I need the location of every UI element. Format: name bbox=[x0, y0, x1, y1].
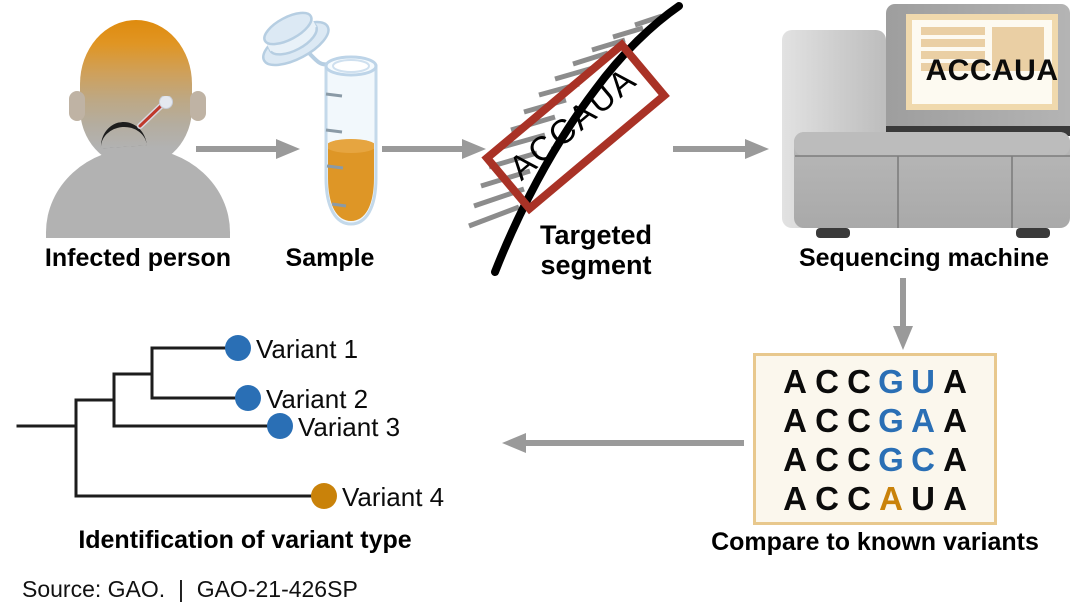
sequencing-machine-icon bbox=[776, 2, 1072, 250]
arrow-segment-to-machine bbox=[673, 136, 769, 162]
sequence-base-highlighted: G bbox=[875, 443, 907, 476]
sequence-base: A bbox=[779, 482, 811, 515]
sequence-base-highlighted: G bbox=[875, 365, 907, 398]
sequencing-machine-illustration: ACCAUA bbox=[776, 2, 1072, 250]
arrow-compare-to-tree bbox=[500, 430, 744, 456]
sequence-row: A C C A U A bbox=[756, 479, 994, 518]
sequence-base: C bbox=[843, 365, 875, 398]
sequence-base: C bbox=[811, 365, 843, 398]
sequence-base-highlighted: A bbox=[907, 404, 939, 437]
stage-label-sample: Sample bbox=[255, 246, 405, 271]
stage-label-sequencing-machine: Sequencing machine bbox=[774, 246, 1073, 271]
source-attribution: Source: GAO. | GAO-21-426SP bbox=[22, 578, 358, 601]
sequence-base: A bbox=[779, 443, 811, 476]
variant-label-4: Variant 4 bbox=[342, 484, 444, 510]
sequence-base: U bbox=[907, 482, 939, 515]
sequence-base: A bbox=[939, 482, 971, 515]
sequence-base: C bbox=[843, 482, 875, 515]
sequence-base: A bbox=[939, 404, 971, 437]
arrow-machine-to-compare bbox=[890, 278, 916, 350]
variant-dot-2 bbox=[235, 385, 261, 411]
sequence-base: C bbox=[811, 404, 843, 437]
sequence-row: A C C G U A bbox=[756, 362, 994, 401]
variant-dot-4 bbox=[311, 483, 337, 509]
sequence-base: A bbox=[939, 365, 971, 398]
sequence-base: A bbox=[779, 365, 811, 398]
sample-tube-illustration bbox=[250, 8, 390, 234]
stage-label-infected-person: Infected person bbox=[18, 246, 258, 271]
sequence-base-highlighted: A bbox=[875, 482, 907, 515]
stage-label-compare-to-known-variants: Compare to known variants bbox=[680, 530, 1070, 555]
sequence-base: C bbox=[843, 443, 875, 476]
sequence-base: C bbox=[811, 482, 843, 515]
variant-dot-1 bbox=[225, 335, 251, 361]
figure-canvas: Infected person bbox=[0, 0, 1073, 612]
sequence-base: C bbox=[811, 443, 843, 476]
infected-person-illustration bbox=[38, 18, 238, 230]
stage-label-targeted-segment-line2: segment bbox=[500, 250, 692, 280]
person-ear-left bbox=[69, 91, 85, 121]
sequence-base: C bbox=[843, 404, 875, 437]
variant-label-2: Variant 2 bbox=[266, 386, 368, 412]
variant-label-3: Variant 3 bbox=[298, 414, 400, 440]
sequence-base: A bbox=[779, 404, 811, 437]
stage-label-targeted-segment: Targeted segment bbox=[500, 220, 692, 280]
sequence-base: A bbox=[939, 443, 971, 476]
stage-label-identification-of-variant-type: Identification of variant type bbox=[40, 528, 450, 553]
sequence-base-highlighted: G bbox=[875, 404, 907, 437]
variant-dot-3 bbox=[267, 413, 293, 439]
phylogenetic-tree-illustration: Variant 1 Variant 2 Variant 3 Variant 4 bbox=[10, 330, 490, 520]
stage-label-targeted-segment-line1: Targeted bbox=[500, 220, 692, 250]
microcentrifuge-tube-icon bbox=[250, 8, 390, 234]
person-ear-right bbox=[190, 91, 206, 121]
sequence-base-highlighted: U bbox=[907, 365, 939, 398]
variant-label-1: Variant 1 bbox=[256, 336, 358, 362]
sequence-row: A C C G A A bbox=[756, 401, 994, 440]
sequence-row: A C C G C A bbox=[756, 440, 994, 479]
known-variants-sequence-box: A C C G U A A C C G A A A C C G C A A C … bbox=[753, 353, 997, 525]
sequence-base-highlighted: C bbox=[907, 443, 939, 476]
machine-screen-sequence-text: ACCAUA bbox=[924, 56, 1060, 86]
thermometer-icon bbox=[136, 96, 176, 130]
